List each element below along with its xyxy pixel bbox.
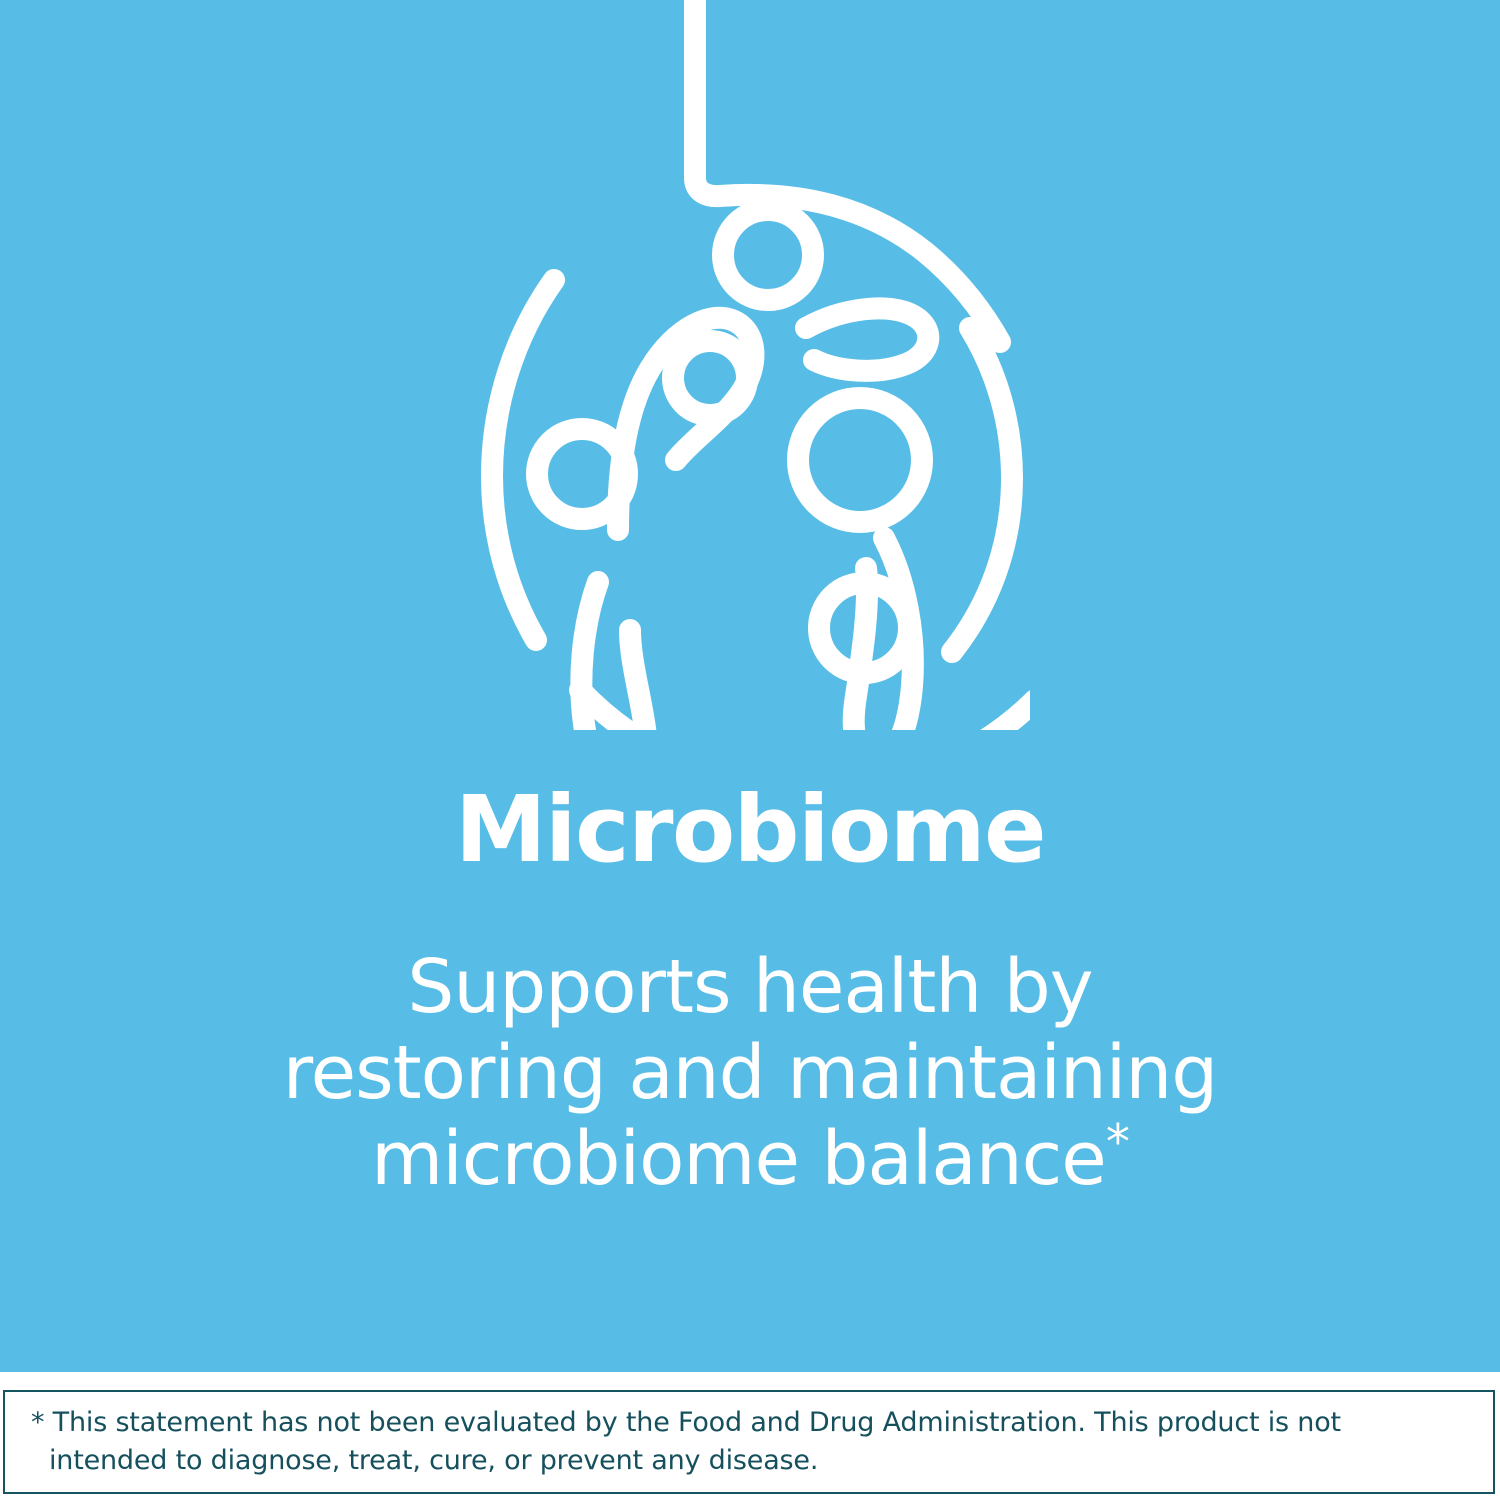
coccus-large-center	[798, 398, 922, 522]
dish-arc-right	[952, 328, 1012, 652]
page-title: Microbiome	[0, 782, 1500, 879]
product-benefit-card: Microbiome Supports health by restoring …	[0, 0, 1500, 1500]
benefit-line-1: Supports health by	[407, 944, 1092, 1030]
coccus-top-center	[723, 210, 813, 300]
fda-disclaimer-box: * This statement has not been evaluated …	[3, 1390, 1495, 1494]
footnote-asterisk: *	[1106, 1114, 1129, 1170]
coccus-small-center	[673, 341, 747, 415]
fda-disclaimer-line-2: intended to diagnose, treat, cure, or pr…	[31, 1442, 1341, 1480]
microbiome-petri-dish-icon	[470, 0, 1030, 730]
microbiome-icon-container	[0, 0, 1500, 720]
bacterium-bean-upper-right	[806, 308, 928, 370]
fda-disclaimer-line-1: * This statement has not been evaluated …	[31, 1407, 1341, 1438]
benefit-line-2: restoring and maintaining	[283, 1030, 1217, 1116]
benefit-description: Supports health by restoring and maintai…	[220, 945, 1280, 1202]
hero-panel: Microbiome Supports health by restoring …	[0, 0, 1500, 1372]
benefit-line-3: microbiome balance	[371, 1116, 1106, 1202]
fda-disclaimer-text: * This statement has not been evaluated …	[5, 1404, 1367, 1481]
